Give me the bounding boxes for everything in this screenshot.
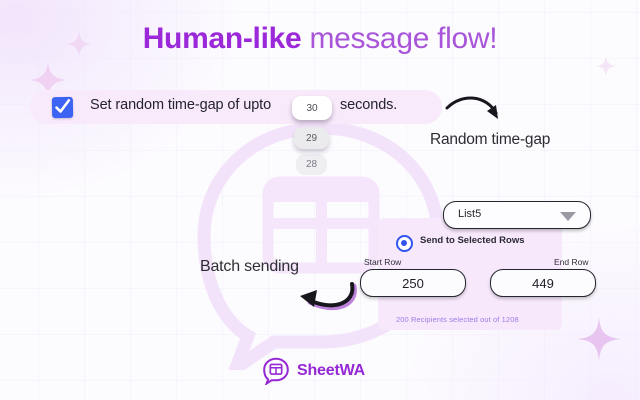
end-row-input[interactable]: 449 — [490, 269, 596, 297]
send-to-selected-rows-radio[interactable] — [396, 235, 413, 252]
speech-bubble-grid-icon — [262, 357, 290, 385]
chevron-down-icon — [560, 212, 576, 221]
annotation-random-time-gap: Random time-gap — [430, 131, 550, 149]
time-gap-spinner-option-28[interactable]: 28 — [296, 154, 327, 175]
title-light: message flow! — [309, 22, 497, 55]
start-row-label: Start Row — [364, 257, 401, 267]
annotation-batch-sending: Batch sending — [200, 258, 299, 276]
send-to-selected-rows-label: Send to Selected Rows — [420, 235, 525, 246]
time-gap-label-after: seconds. — [340, 97, 397, 113]
check-icon — [54, 99, 71, 116]
random-time-gap-checkbox[interactable] — [52, 97, 73, 118]
time-gap-label-before: Set random time-gap of upto — [90, 97, 271, 113]
time-gap-value-input[interactable]: 30 — [292, 96, 332, 120]
end-row-label: End Row — [554, 257, 589, 267]
brand-logo: SheetWA — [262, 357, 365, 385]
list-select-value: List5 — [458, 208, 481, 220]
time-gap-spinner-option-29[interactable]: 29 — [294, 127, 329, 149]
title-strong: Human-like — [143, 22, 302, 55]
brand-name: SheetWA — [297, 362, 365, 380]
list-select-dropdown[interactable]: List5 — [443, 201, 591, 229]
page-title: Human-like message flow! — [0, 22, 640, 56]
start-row-input[interactable]: 250 — [360, 269, 466, 297]
recipients-status-text: 200 Recipients selected out of 1208 — [396, 315, 519, 324]
promo-banner: Human-like message flow! Set random time… — [0, 0, 640, 400]
